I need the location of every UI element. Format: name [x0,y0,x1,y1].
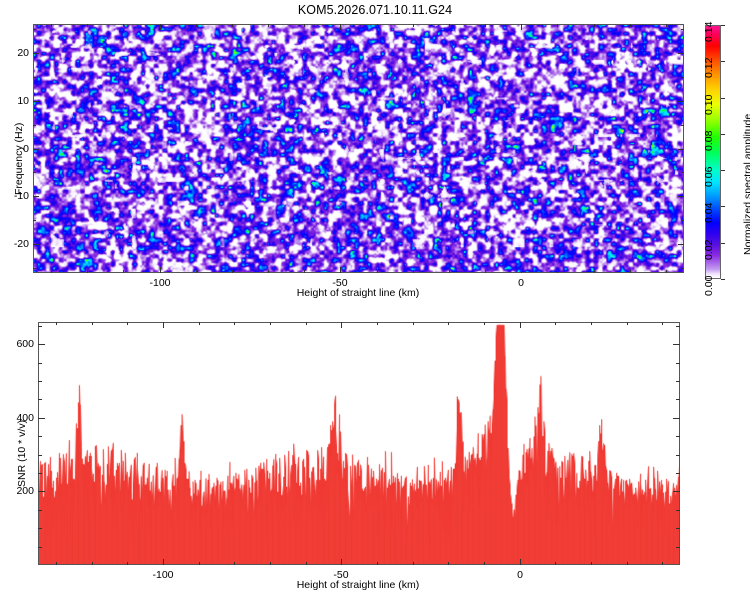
x-tick-minor-top [662,322,663,325]
x-tick-minor [51,270,52,273]
y-tick-label: 10 [5,95,29,107]
y-tick-minor [33,268,36,269]
x-tick-minor [666,270,667,273]
colorbar-tick-label: 0.10 [703,95,715,115]
y-tick-minor [33,220,36,221]
x-tick-minor [557,270,558,273]
x-tick-minor [234,562,235,565]
y-tick-minor [38,473,42,474]
x-tick-minor-top [594,24,595,27]
page-title: KOM5.2026.071.10.11.G24 [0,3,750,17]
x-tick-major [521,267,522,273]
x-tick-label: -100 [149,277,170,289]
x-tick-minor-top [448,322,449,325]
x-tick-major-top [163,322,164,328]
y-tick-minor-right [676,436,680,437]
x-tick-minor-top [56,322,57,325]
y-tick-major [38,344,45,345]
y-tick-minor-right [676,455,680,456]
x-tick-minor [92,562,93,565]
x-tick-minor-top [413,322,414,325]
x-tick-minor-top [123,24,124,27]
y-tick-minor-right [681,268,684,269]
y-tick-minor-right [676,363,680,364]
x-tick-minor-top [449,24,450,27]
x-tick-minor [377,562,378,565]
y-tick-major [33,53,39,54]
y-tick-major-right [673,418,680,419]
spectrogram-y-axis-title: Frequency (Hz) [13,123,25,195]
x-tick-minor-top [232,24,233,27]
x-tick-minor [56,562,57,565]
colorbar-tick-label: 0.12 [703,58,715,78]
y-tick-minor-right [676,510,680,511]
spectrogram-plot-area [33,24,684,273]
y-tick-minor-right [681,172,684,173]
x-tick-minor [87,270,88,273]
y-tick-minor [38,510,42,511]
x-tick-minor [413,270,414,273]
y-tick-minor-right [676,326,680,327]
x-tick-minor-top [666,24,667,27]
x-tick-minor-top [87,24,88,27]
x-tick-minor-top [268,24,269,27]
y-tick-minor-right [676,473,680,474]
y-tick-major [33,101,39,102]
colorbar-tick-label: 0.08 [703,131,715,151]
y-tick-minor [38,326,42,327]
spectrogram-x-axis-title: Height of straight line (km) [297,287,420,299]
x-tick-label: -100 [152,569,173,581]
x-tick-minor [627,562,628,565]
colorbar-tick-label: 0.14 [703,22,715,42]
x-tick-minor-top [234,322,235,325]
x-tick-label: 0 [518,277,524,289]
x-tick-major-top [341,322,342,328]
x-tick-major [160,267,161,273]
x-tick-minor-top [630,24,631,27]
snr-x-axis-title: Height of straight line (km) [297,579,420,591]
x-tick-minor [123,270,124,273]
x-tick-minor-top [555,322,556,325]
y-tick-minor [38,436,42,437]
x-tick-minor [304,270,305,273]
snr-plot-area [38,322,680,565]
y-tick-minor-right [676,547,680,548]
y-tick-major-right [678,149,684,150]
x-tick-minor [449,270,450,273]
x-tick-major-top [340,24,341,30]
x-tick-minor-top [557,24,558,27]
colorbar-tick [721,243,725,244]
colorbar-tick-label: 0.06 [703,167,715,187]
y-tick-minor [38,455,42,456]
x-tick-minor-top [627,322,628,325]
x-tick-minor [127,562,128,565]
x-tick-major [341,559,342,565]
x-tick-minor-top [485,24,486,27]
x-tick-major-top [160,24,161,30]
x-tick-minor [485,270,486,273]
x-tick-major [340,267,341,273]
y-tick-major-right [673,344,680,345]
figure-root: KOM5.2026.071.10.11.G24 -100-500-20-1001… [0,0,750,600]
y-tick-major [33,196,39,197]
colorbar-tick [721,170,725,171]
x-tick-minor [630,270,631,273]
y-tick-minor [33,77,36,78]
colorbar-tick-label: 0.02 [703,240,715,260]
y-tick-major-right [678,101,684,102]
y-tick-major [33,149,39,150]
x-tick-minor [555,562,556,565]
y-tick-major-right [678,244,684,245]
spectrogram-image [34,25,683,272]
x-tick-minor-top [270,322,271,325]
y-tick-minor-right [681,77,684,78]
x-tick-minor-top [484,322,485,325]
x-tick-minor-top [591,322,592,325]
y-tick-minor [38,528,42,529]
x-tick-minor [196,270,197,273]
x-tick-minor [199,562,200,565]
y-tick-minor [33,29,36,30]
y-tick-minor [38,363,42,364]
x-tick-label: 0 [517,569,523,581]
y-tick-major-right [673,491,680,492]
x-tick-minor [484,562,485,565]
colorbar-tick [721,25,725,26]
y-tick-minor [38,381,42,382]
y-tick-minor-right [681,29,684,30]
colorbar-tick [721,98,725,99]
y-tick-label: 600 [6,338,34,350]
colorbar-title: Normalized spectral amplitude [742,114,750,255]
y-tick-minor-right [676,381,680,382]
y-tick-minor [38,399,42,400]
x-tick-major [163,559,164,565]
colorbar-tick [721,206,725,207]
x-tick-minor [268,270,269,273]
y-tick-minor [33,172,36,173]
x-tick-minor [306,562,307,565]
y-tick-minor-right [676,528,680,529]
y-tick-major-right [678,196,684,197]
y-tick-minor-right [676,399,680,400]
x-tick-minor-top [199,322,200,325]
x-tick-minor [591,562,592,565]
x-tick-minor [377,270,378,273]
x-tick-minor-top [196,24,197,27]
snr-trace [39,323,679,564]
x-tick-minor [662,562,663,565]
y-tick-minor [38,547,42,548]
y-tick-major-right [678,53,684,54]
x-tick-minor [594,270,595,273]
y-tick-major [33,244,39,245]
y-tick-minor-right [681,125,684,126]
colorbar-tick-label: 0.00 [703,276,715,296]
y-tick-major [38,491,45,492]
x-tick-minor-top [127,322,128,325]
x-tick-minor-top [92,322,93,325]
snr-y-axis-title: SNR (10 * v/v) [16,420,28,487]
x-tick-minor-top [413,24,414,27]
x-tick-major [520,559,521,565]
x-tick-major-top [520,322,521,328]
y-tick-major [38,418,45,419]
x-tick-minor [270,562,271,565]
colorbar-tick [721,279,725,280]
y-tick-label: -20 [5,238,29,250]
x-tick-minor [413,562,414,565]
x-tick-minor-top [304,24,305,27]
colorbar-tick [721,134,725,135]
x-tick-minor-top [306,322,307,325]
colorbar-tick [721,61,725,62]
x-tick-minor [232,270,233,273]
x-tick-major-top [521,24,522,30]
x-tick-minor-top [377,322,378,325]
y-tick-minor [33,125,36,126]
colorbar-tick-label: 0.04 [703,203,715,223]
x-tick-minor [448,562,449,565]
x-tick-minor-top [51,24,52,27]
y-tick-label: 20 [5,47,29,59]
y-tick-minor-right [681,220,684,221]
x-tick-minor-top [377,24,378,27]
